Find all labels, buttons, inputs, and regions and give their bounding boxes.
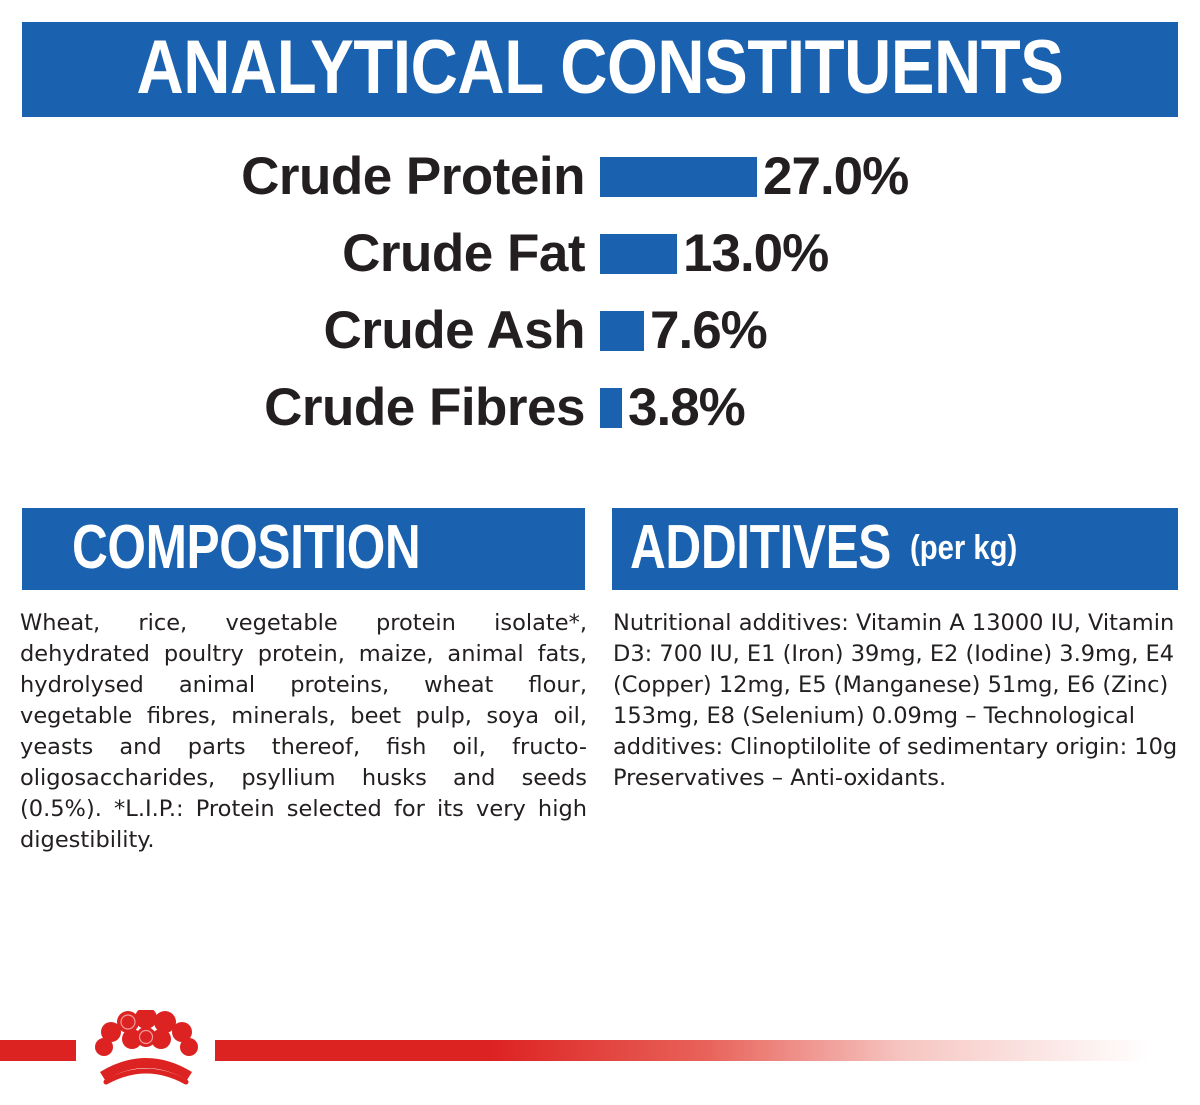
constituent-value: 13.0% bbox=[683, 227, 828, 280]
composition-banner: COMPOSITION bbox=[22, 508, 585, 590]
constituent-row: Crude Fibres 3.8% bbox=[0, 369, 1200, 446]
constituent-bar-wrap: 3.8% bbox=[600, 381, 745, 434]
footer-rule-right bbox=[215, 1040, 1200, 1061]
constituent-bar-wrap: 7.6% bbox=[600, 304, 767, 357]
footer bbox=[0, 1008, 1200, 1105]
footer-rule-left bbox=[0, 1040, 76, 1061]
constituent-label: Crude Fat bbox=[0, 227, 600, 280]
constituent-bar bbox=[600, 234, 677, 274]
constituent-bar bbox=[600, 311, 644, 351]
composition-text: Wheat, rice, vegetable protein isolate*,… bbox=[20, 608, 587, 856]
constituent-bar-wrap: 13.0% bbox=[600, 227, 828, 280]
royal-canin-crown-icon bbox=[84, 1010, 208, 1090]
constituent-label: Crude Ash bbox=[0, 304, 600, 357]
constituent-row: Crude Protein 27.0% bbox=[0, 138, 1200, 215]
constituent-bar bbox=[600, 157, 757, 197]
additives-title: ADDITIVES bbox=[630, 517, 891, 582]
constituent-label: Crude Fibres bbox=[0, 381, 600, 434]
constituent-row: Crude Ash 7.6% bbox=[0, 292, 1200, 369]
composition-title: COMPOSITION bbox=[72, 517, 420, 582]
additives-text: Nutritional additives: Vitamin A 13000 I… bbox=[613, 608, 1179, 794]
analytical-constituents-banner: ANALYTICAL CONSTITUENTS bbox=[22, 22, 1178, 117]
constituent-bar-wrap: 27.0% bbox=[600, 150, 908, 203]
constituent-value: 3.8% bbox=[628, 381, 745, 434]
constituent-bar bbox=[600, 388, 622, 428]
constituent-value: 7.6% bbox=[650, 304, 767, 357]
analytical-constituents-title: ANALYTICAL CONSTITUENTS bbox=[136, 30, 1063, 110]
additives-subtitle: (per kg) bbox=[910, 529, 1017, 570]
analytical-constituents-chart: Crude Protein 27.0% Crude Fat 13.0% Crud… bbox=[0, 138, 1200, 446]
additives-banner: ADDITIVES (per kg) bbox=[612, 508, 1178, 590]
constituent-value: 27.0% bbox=[763, 150, 908, 203]
constituent-label: Crude Protein bbox=[0, 150, 600, 203]
constituent-row: Crude Fat 13.0% bbox=[0, 215, 1200, 292]
